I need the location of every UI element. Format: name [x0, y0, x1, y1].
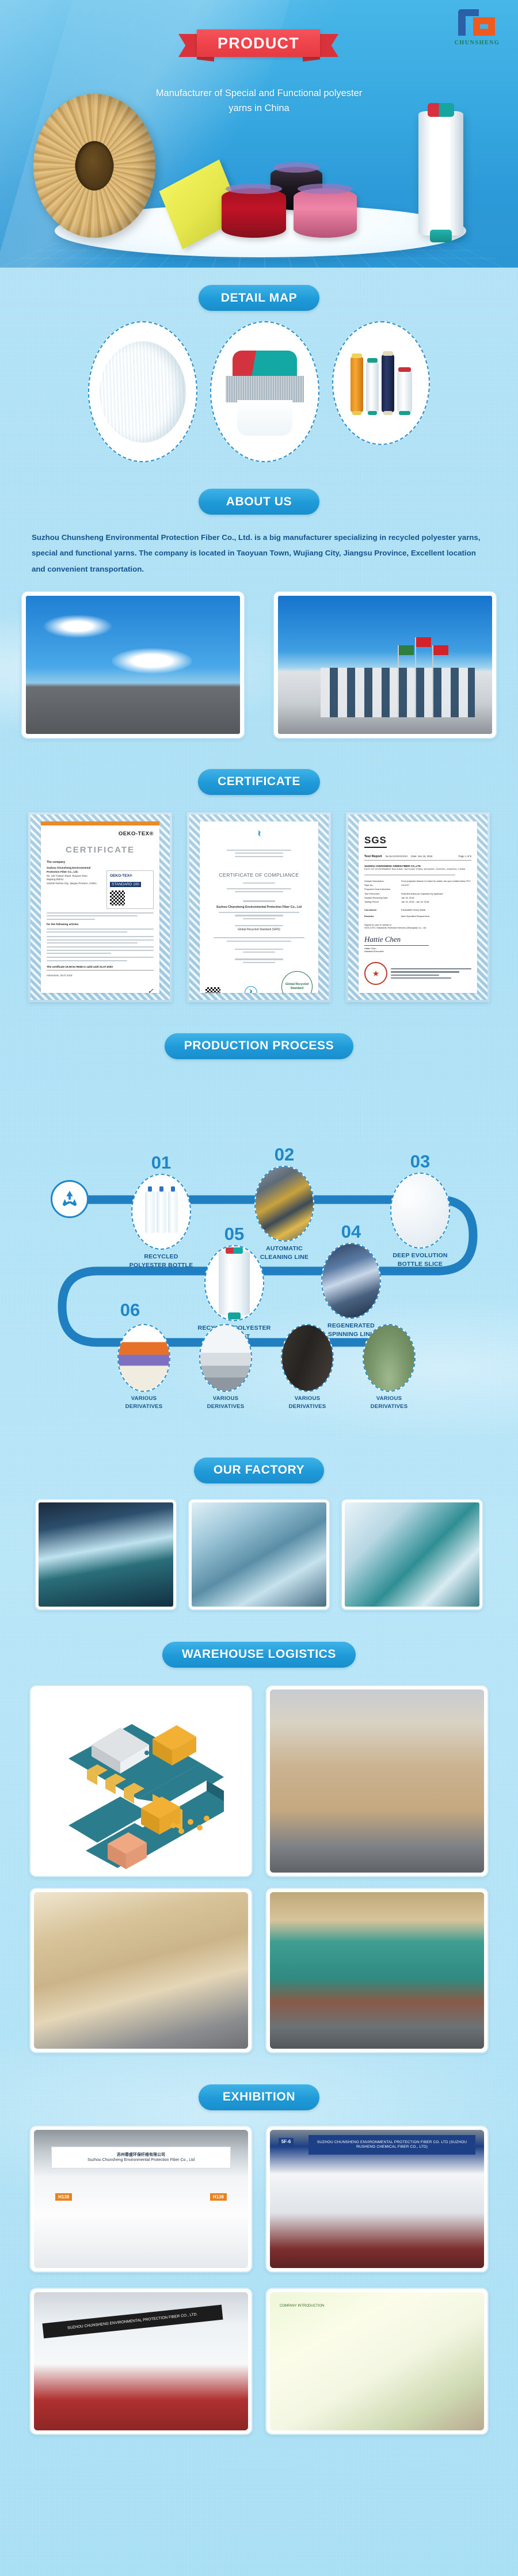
warehouse-card-2	[265, 1685, 489, 1877]
booth-overhead-sign-photo: SUZHOU CHUNSHENG ENVIRONMENTAL PROTECTIO…	[34, 2292, 248, 2430]
flagpole-3	[432, 645, 433, 717]
process-step-03-number: 03	[368, 1152, 472, 1170]
exhibition-card-3: SUZHOU CHUNSHENG ENVIRONMENTAL PROTECTIO…	[29, 2288, 253, 2435]
logistics-isometric-illustration	[34, 1690, 248, 1873]
spool-top	[273, 162, 319, 173]
detail-photo-yarn-disc	[88, 321, 197, 462]
sgs-field-key-1: Style No.	[364, 883, 399, 887]
oeko-tex-signature: ✓	[147, 987, 154, 993]
our-factory-section: OUR FACTORY	[0, 1371, 518, 1611]
oeko-tex-company-label: The company	[47, 861, 154, 864]
oeko-tex-badge-standard: STANDARD 100	[110, 882, 141, 887]
oeko-tex-place-date: Hohenstein, 30.07.2019	[47, 974, 154, 977]
spinning-line-image	[322, 1244, 380, 1318]
flagpole-2	[415, 637, 416, 717]
ribbon-body: PRODUCT	[197, 29, 320, 57]
polyester-filament-image	[219, 1251, 250, 1315]
bottle	[157, 1190, 166, 1233]
detail-photo-colored-cones	[332, 321, 430, 445]
about-photo-frame-1	[21, 591, 245, 739]
process-step-04-image	[321, 1243, 381, 1319]
sgs-date: Date: Jan 18, 2018	[411, 855, 432, 858]
process-step-05-image	[204, 1245, 264, 1321]
oeko-tex-validity: The certificate 19.HCN.70636 is valid un…	[47, 965, 154, 971]
spool-top	[226, 184, 283, 194]
section-title-warehouse-logistics: WAREHOUSE LOGISTICS	[162, 1642, 356, 1668]
cone-navy	[382, 355, 394, 412]
control-union-mark-icon	[205, 829, 313, 840]
sgs-field-key-2: Proposed Care Instruction	[364, 887, 399, 891]
warehouse-card-4	[265, 1888, 489, 2053]
oeko-tex-address-3: 215230 Suzhou City, Jiangsu Province, CH…	[47, 882, 103, 886]
process-step-06: 06	[113, 1301, 147, 1319]
spinning-workshop-aisle-photo	[39, 1502, 173, 1607]
factory-photo-1	[35, 1498, 177, 1611]
sgs-remarks-label: Remarks	[364, 915, 399, 918]
booth-number-right: H138	[210, 2193, 227, 2201]
carton-stacks-photo	[34, 1892, 248, 2049]
oeko-tex-top-bar	[41, 821, 159, 825]
process-step-04-number: 04	[299, 1223, 403, 1241]
oeko-tex-badge-title: OEKO-TEX®	[110, 874, 150, 878]
pallet-wrapping-photo	[270, 1690, 484, 1873]
winding-machines-photo	[192, 1502, 326, 1607]
flag-green	[399, 645, 414, 655]
colored-cones-image	[351, 355, 412, 412]
sgs-page: Page 1 of 5	[459, 855, 471, 858]
flag-red-1	[416, 637, 431, 647]
sgs-heading: Test Report	[364, 855, 382, 858]
about-us-gallery	[0, 591, 518, 739]
sgs-field-val-3: Selected test(s) as requested by applica…	[401, 892, 471, 896]
sgs-remarks: Meet Specified Requirement	[401, 915, 471, 918]
booth-h138-photo: 苏州春盛环保纤维有限公司 Suzhou Chunsheng Environmen…	[34, 2130, 248, 2268]
warehouse-card-3	[29, 1888, 253, 2053]
qr-code-icon	[110, 891, 125, 905]
oeko-tex-brand: OEKO-TEX®	[47, 831, 154, 837]
grs-badge: Global Recycled Standard	[281, 971, 313, 993]
bottle	[145, 1190, 155, 1233]
booth-banner-4: COMPANY INTRODUCTION	[279, 2300, 377, 2313]
red-yarn-spool-image	[222, 188, 286, 238]
sgs-field-key-5: Testing Period	[364, 900, 399, 904]
certificate-section: CERTIFICATE OEKO-TEX® CERTIFICATE The co…	[0, 739, 518, 1002]
process-step-05-number: 05	[180, 1225, 289, 1243]
booth-number-5f6: 5F-6	[279, 2138, 294, 2145]
hero-title: PRODUCT	[218, 35, 299, 52]
exhibition-gallery-row-1: 苏州春盛环保纤维有限公司 Suzhou Chunsheng Environmen…	[0, 2125, 518, 2273]
qr-code-icon	[205, 987, 220, 993]
exhibition-section: EXHIBITION 苏州春盛环保纤维有限公司 Suzhou Chunsheng…	[0, 2053, 518, 2435]
bottle	[168, 1190, 178, 1233]
booth-banner-1-en: Suzhou Chunsheng Environmental Protectio…	[87, 2158, 195, 2162]
process-step-02-number: 02	[236, 1146, 333, 1163]
factory-gate-photo	[26, 596, 240, 734]
booth-banner-1-cn: 苏州春盛环保纤维有限公司	[117, 2153, 165, 2157]
logo-wordmark: CHUNSHENG	[449, 40, 505, 46]
yarn-disc-image	[100, 341, 186, 443]
sgs-signed-for: SGS-CSTC Standards Technical Services (S…	[364, 926, 471, 929]
company-logo: CHUNSHENG	[449, 7, 505, 46]
certificate-card-sgs: SGS Test Report No.SLXXXXXXXXX Date: Jan…	[346, 812, 490, 1002]
grs-heading: CERTIFICATE OF COMPLIANCE	[205, 872, 313, 878]
our-factory-gallery	[0, 1498, 518, 1611]
sgs-field-val-5: Jan 15, 2018 - Jan 18, 2018	[401, 900, 471, 904]
production-process-section: PRODUCTION PROCESS 01	[0, 1002, 518, 1371]
production-process-diagram: 01 RECYCLED POLYESTER BOTTLE 02 AUTOMATI…	[0, 1072, 518, 1371]
spool-top	[298, 184, 353, 194]
booth-5f6-photo: SUZHOU CHUNSHENG ENVIRONMENTAL PROTECTIO…	[270, 2130, 484, 2268]
certificate-paper-grs: CERTIFICATE OF COMPLIANCE Suzhou Chunshe…	[200, 821, 318, 993]
certificate-gallery: OEKO-TEX® CERTIFICATE The company Suzhou…	[0, 812, 518, 1002]
oeko-tex-badge: OEKO-TEX® STANDARD 100	[106, 870, 154, 909]
pink-yarn-spool-image	[294, 188, 357, 238]
recycled-bottles-image	[145, 1190, 178, 1233]
logo-mark-icon	[456, 7, 498, 38]
sgs-field-val-2: -	[401, 887, 471, 891]
certificate-paper-oeko-tex: OEKO-TEX® CERTIFICATE The company Suzhou…	[41, 821, 159, 993]
certificate-card-oeko-tex: OEKO-TEX® CERTIFICATE The company Suzhou…	[28, 812, 172, 1002]
office-building-photo	[278, 596, 492, 734]
ribbon-fold-right	[303, 57, 320, 62]
about-photo-frame-2	[273, 591, 497, 739]
section-title-detail-map: DETAIL MAP	[199, 285, 319, 311]
hero-subtitle: Manufacturer of Special and Functional p…	[144, 86, 374, 116]
detail-photo-capped-roll	[210, 321, 319, 462]
flag-red-2	[433, 645, 448, 655]
booth-banner-2: SUZHOU CHUNSHENG ENVIRONMENTAL PROTECTIO…	[308, 2135, 475, 2155]
about-us-section: ABOUT US Suzhou Chunsheng Environmental …	[0, 462, 518, 739]
oeko-tex-articles-label: for the following articles	[47, 923, 154, 926]
cone-orange	[351, 357, 363, 412]
sgs-report-no: No.SLXXXXXXXXX	[386, 855, 408, 858]
roll-barrel	[226, 376, 304, 402]
exhibition-card-4: COMPANY INTRODUCTION	[265, 2288, 489, 2435]
detail-map-section: DETAIL MAP	[0, 268, 518, 462]
hero-banner: CHUNSHENG PRODUCT Manufacturer of Specia…	[0, 0, 518, 268]
section-title-exhibition: EXHIBITION	[199, 2084, 319, 2110]
sgs-conclusion-label: Conclusion	[364, 908, 399, 911]
cone-cream	[397, 371, 412, 412]
exhibition-card-1: 苏州春盛环保纤维有限公司 Suzhou Chunsheng Environmen…	[29, 2125, 253, 2273]
gold-yarn-coil-image	[33, 94, 155, 238]
sgs-signatory-title: Assistant Executive	[364, 950, 471, 953]
flagpole-1	[398, 645, 399, 717]
certificate-paper-sgs: SGS Test Report No.SLXXXXXXXXX Date: Jan…	[359, 821, 477, 993]
cone-white	[366, 362, 379, 412]
booth-visitors-photo: COMPANY INTRODUCTION	[270, 2292, 484, 2430]
factory-photo-3	[341, 1498, 483, 1611]
sgs-conclusion: Extractable Heavy Metal	[401, 908, 471, 911]
certificate-card-grs: CERTIFICATE OF COMPLIANCE Suzhou Chunshe…	[187, 812, 331, 1002]
exhibition-card-2: SUZHOU CHUNSHENG ENVIRONMENTAL PROTECTIO…	[265, 2125, 489, 2273]
booth-banner-1: 苏州春盛环保纤维有限公司 Suzhou Chunsheng Environmen…	[51, 2147, 231, 2168]
bobbin-foot	[430, 230, 452, 242]
ribbon-tail-left	[178, 34, 199, 57]
sgs-brand: SGS	[364, 835, 387, 848]
roll-base	[237, 400, 292, 436]
section-title-our-factory: OUR FACTORY	[194, 1458, 324, 1483]
control-union-accreditation-icon	[244, 985, 258, 993]
sgs-field-val-1: XX/XXF	[401, 883, 471, 887]
capped-roll-image	[224, 346, 305, 438]
recycle-icon	[51, 1180, 89, 1218]
warehouse-gallery-row-2	[0, 1888, 518, 2053]
section-title-production-process: PRODUCTION PROCESS	[165, 1033, 354, 1059]
warehouse-gallery-row-1	[0, 1685, 518, 1877]
section-title-certificate: CERTIFICATE	[198, 769, 320, 795]
red-seal-icon: ★	[364, 962, 387, 985]
oeko-tex-company: Suzhou Chunsheng Environmental Protectio…	[47, 866, 103, 874]
oeko-tex-heading: CERTIFICATE	[47, 845, 154, 855]
exhibition-gallery-row-2: SUZHOU CHUNSHENG ENVIRONMENTAL PROTECTIO…	[0, 2288, 518, 2435]
ribbon-tail-right	[318, 34, 338, 57]
warehouse-card-1	[29, 1685, 253, 1877]
sgs-field-key-3: Test Performed	[364, 892, 399, 896]
hero-ribbon: PRODUCT	[178, 26, 338, 60]
product-detail-page: CHUNSHENG PRODUCT Manufacturer of Specia…	[0, 0, 518, 2576]
grs-company: Suzhou Chunsheng Environmental Protectio…	[205, 905, 313, 910]
bobbin-line-photo	[345, 1502, 479, 1607]
sgs-field-val-0: From polyester filament in black for lad…	[401, 879, 471, 883]
container-loading-photo	[270, 1892, 484, 2049]
sgs-address: EAST OF GOVERNMENT BUILDING, TAOYUAN TOW…	[364, 867, 471, 871]
about-us-paragraph: Suzhou Chunsheng Environmental Protectio…	[32, 530, 486, 577]
process-step-06-number: 06	[113, 1301, 147, 1319]
section-title-about-us: ABOUT US	[199, 489, 319, 515]
sgs-field-val-4: Jan 15, 2018	[401, 896, 471, 900]
white-yarn-bobbin-image	[418, 111, 463, 235]
sgs-field-key-4: Sample Receiving Date	[364, 896, 399, 900]
grs-standard: Global Recycled Standard (GRS)	[205, 928, 313, 931]
factory-photo-2	[188, 1498, 330, 1611]
bobbin-cap	[428, 103, 454, 117]
detail-map-gallery	[0, 321, 518, 462]
process-step-01-number: 01	[113, 1154, 210, 1171]
sgs-signature: Hattie Chen	[364, 935, 471, 944]
booth-banner-3: SUZHOU CHUNSHENG ENVIRONMENTAL PROTECTIO…	[42, 2305, 223, 2339]
sgs-field-key-0: Sample Description	[364, 879, 399, 883]
booth-number-left: H138	[55, 2193, 72, 2201]
warehouse-logistics-section: WAREHOUSE LOGISTICS	[0, 1611, 518, 2053]
